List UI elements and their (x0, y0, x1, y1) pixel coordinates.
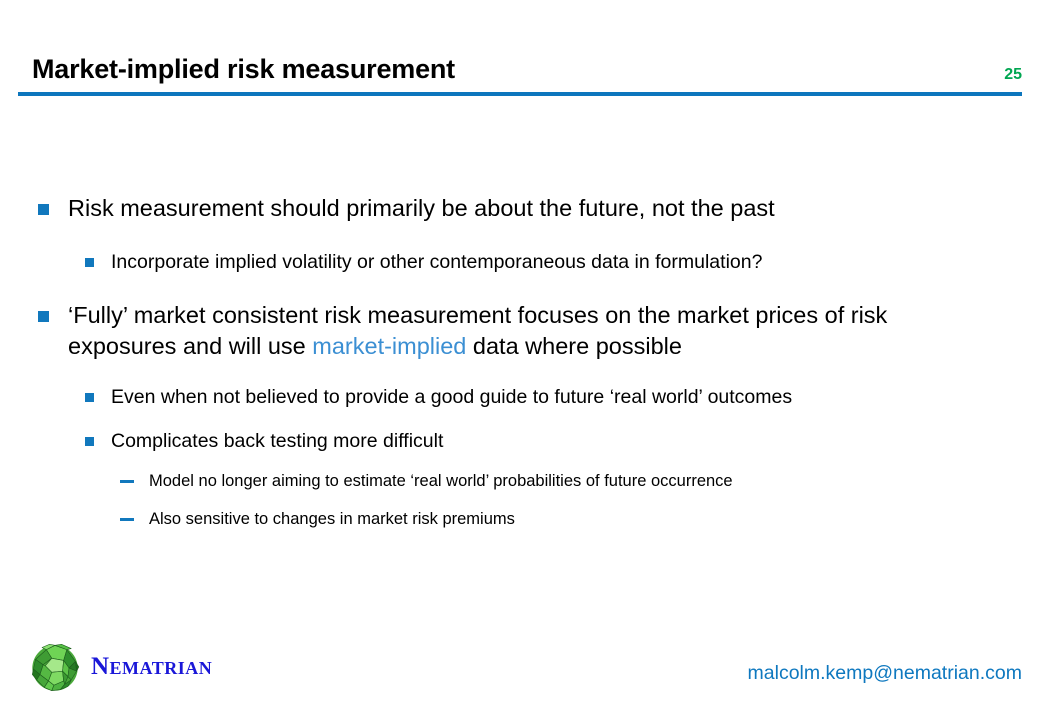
brand-wordmark: Nematrian (91, 654, 212, 682)
spacer (0, 224, 1040, 249)
bullet-level2: Incorporate implied volatility or other … (0, 249, 1040, 276)
bullet-level2: Even when not believed to provide a good… (0, 384, 1040, 411)
bullet-text: Also sensitive to changes in market risk… (149, 507, 970, 531)
contact-email[interactable]: malcolm.kemp@nematrian.com (748, 662, 1022, 685)
bullet-text: ‘Fully’ market consistent risk measureme… (68, 300, 970, 362)
dash-bullet-icon (120, 518, 134, 521)
page-number: 25 (1004, 66, 1022, 84)
square-bullet-icon (85, 258, 94, 267)
spacer (0, 411, 1040, 428)
bullet-text: Model no longer aiming to estimate ‘real… (149, 469, 970, 493)
square-bullet-icon (85, 437, 94, 446)
header-divider (18, 92, 1022, 96)
spacer (0, 276, 1040, 300)
brand-logo: Nematrian (28, 641, 212, 695)
bullet-level3: Model no longer aiming to estimate ‘real… (0, 469, 1040, 493)
square-bullet-icon (38, 311, 49, 322)
spacer (0, 362, 1040, 384)
bullet-text-after: data where possible (466, 333, 682, 359)
polyhedron-logo-icon (28, 641, 82, 695)
page-title: Market-implied risk measurement (32, 54, 455, 85)
bullet-level1: ‘Fully’ market consistent risk measureme… (0, 300, 1040, 362)
dash-bullet-icon (120, 480, 134, 483)
square-bullet-icon (85, 393, 94, 402)
spacer (0, 493, 1040, 507)
bullet-level3: Also sensitive to changes in market risk… (0, 507, 1040, 531)
bullet-level1: Risk measurement should primarily be abo… (0, 193, 1040, 224)
highlighted-term: market-implied (312, 333, 466, 359)
spacer (0, 455, 1040, 469)
slide-body: Risk measurement should primarily be abo… (0, 193, 1040, 531)
bullet-text: Complicates back testing more difficult (111, 428, 970, 455)
square-bullet-icon (38, 204, 49, 215)
bullet-text: Even when not believed to provide a good… (111, 384, 970, 411)
slide-canvas: Market-implied risk measurement 25 Risk … (0, 0, 1040, 720)
bullet-level2: Complicates back testing more difficult (0, 428, 1040, 455)
bullet-text: Incorporate implied volatility or other … (111, 249, 970, 276)
bullet-text: Risk measurement should primarily be abo… (68, 193, 970, 224)
